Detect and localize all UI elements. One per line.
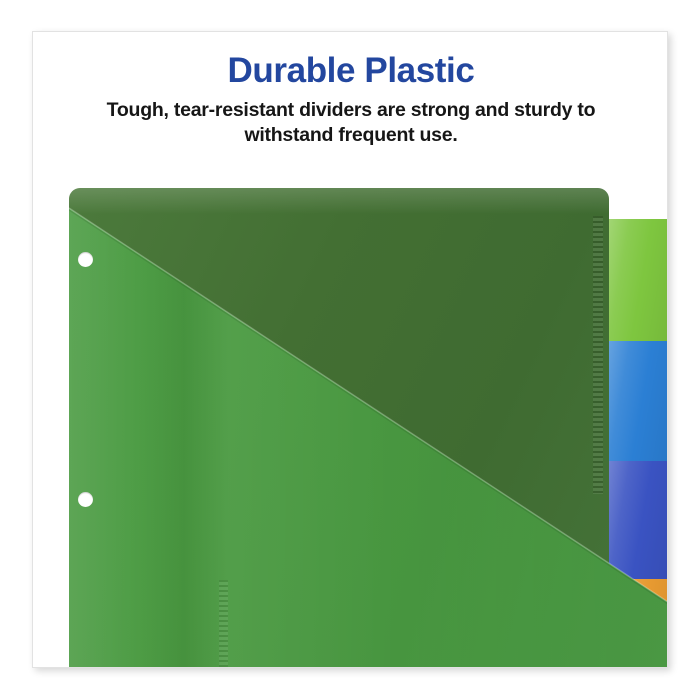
page-title: Durable Plastic (33, 50, 668, 92)
punch-hole-top (78, 252, 93, 267)
product-card: Durable Plastic Tough, tear-resistant di… (32, 31, 668, 668)
tab-lime-sheen (606, 219, 668, 341)
headline-block: Durable Plastic Tough, tear-resistant di… (33, 50, 668, 148)
tab-blue: blue tab (606, 341, 668, 461)
divider-product-photo: lime green tab blue tab royal blue tab o… (69, 188, 668, 668)
punch-hole-bottom (78, 492, 93, 507)
binding-ribs-lower (219, 580, 228, 668)
product-image-stage: Durable Plastic Tough, tear-resistant di… (0, 0, 700, 700)
tab-blue-sheen (606, 341, 668, 461)
tab-royal: royal blue tab (606, 461, 668, 579)
binding-ribs-upper (593, 216, 603, 494)
tab-royal-sheen (606, 461, 668, 579)
page-subtitle: Tough, tear-resistant dividers are stron… (71, 98, 631, 148)
tab-lime: lime green tab (606, 219, 668, 341)
